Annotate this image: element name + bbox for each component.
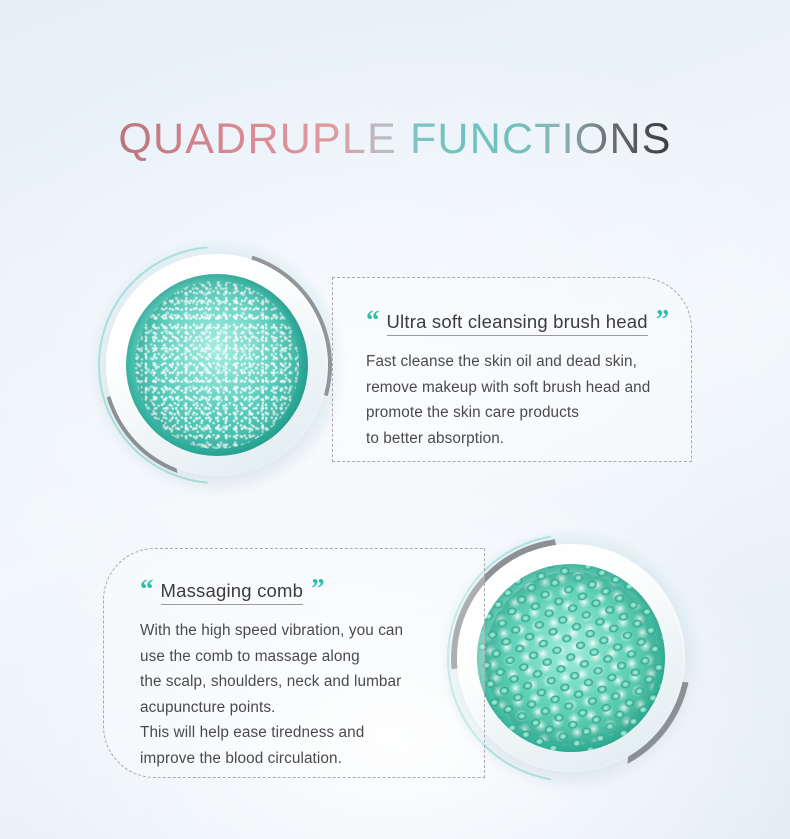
- product-image-brush-head: [92, 236, 344, 498]
- brush-bristles-texture: [135, 281, 299, 448]
- quote-close-icon: ”: [311, 575, 324, 602]
- callout-heading-row-brush: “ Ultra soft cleansing brush head ”: [366, 306, 676, 336]
- body-line: the scalp, shoulders, neck and lumbar: [140, 669, 440, 695]
- body-line: This will help ease tiredness and: [140, 720, 440, 746]
- body-line: promote the skin care products: [366, 400, 676, 426]
- body-line: to better absorption.: [366, 426, 676, 452]
- quote-open-icon: “: [140, 576, 153, 603]
- body-line: Fast cleanse the skin oil and dead skin,: [366, 349, 676, 375]
- body-line: use the comb to massage along: [140, 644, 440, 670]
- callout-headline-comb: Massaging comb: [161, 580, 304, 605]
- callout-heading-row-comb: “ Massaging comb ”: [140, 575, 440, 605]
- callout-headline-brush: Ultra soft cleansing brush head: [387, 311, 648, 336]
- page-title: QUADRUPLE FUNCTIONS: [0, 113, 790, 165]
- brush-head-bowl: [126, 274, 308, 456]
- callout-body-brush: Fast cleanse the skin oil and dead skin,…: [366, 349, 676, 451]
- poster-canvas: QUADRUPLE FUNCTIONS “ Ultra soft cleansi…: [0, 0, 790, 839]
- callout-content-comb: “ Massaging comb ” With the high speed v…: [140, 575, 440, 771]
- callout-body-comb: With the high speed vibration, you can u…: [140, 618, 440, 771]
- callout-content-brush: “ Ultra soft cleansing brush head ” Fast…: [366, 306, 676, 451]
- quote-open-icon: “: [366, 307, 379, 334]
- comb-silicone-nubs-texture: [477, 564, 665, 752]
- body-line: With the high speed vibration, you can: [140, 618, 440, 644]
- body-line: remove makeup with soft brush head and: [366, 375, 676, 401]
- comb-head-bowl: [477, 564, 665, 752]
- quote-close-icon: ”: [656, 306, 669, 333]
- body-line: acupuncture points.: [140, 695, 440, 721]
- body-line: improve the blood circulation.: [140, 746, 440, 772]
